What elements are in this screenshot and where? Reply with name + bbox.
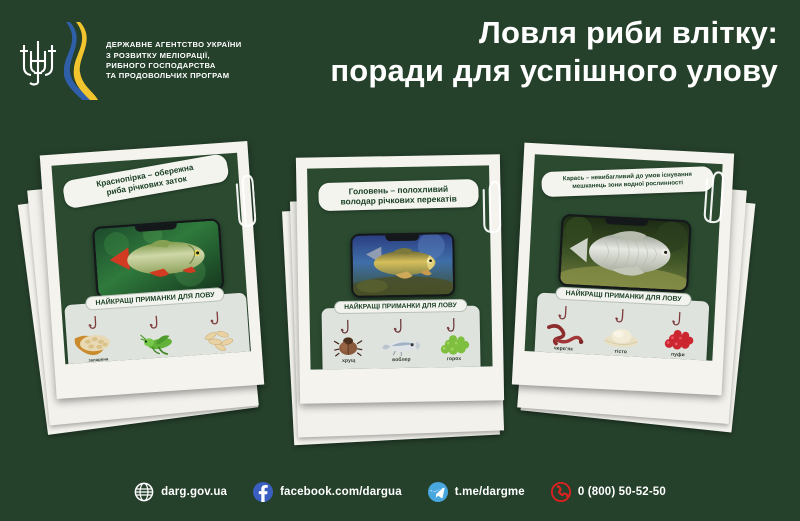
fish-photo-frame [350,232,455,298]
card-inner: НАЙКРАЩІ ПРИМАНКИ ДЛЯ ЛОВУ [525,154,723,361]
baits-heading: НАЙКРАЩІ ПРИМАНКИ ДЛЯ ЛОВУ [334,299,467,314]
fish-photo-frame [558,214,692,293]
phone-icon [551,482,571,502]
poster-canvas: ДЕРЖАВНЕ АГЕНТСТВО УКРАЇНИ З РОЗВИТКУ МЕ… [0,0,800,521]
baits-row: черв'як [535,304,709,361]
hook-icon [341,319,355,336]
bait-item[interactable]: коник [127,313,188,364]
hook-icon [558,305,573,323]
bait-item[interactable]: тісто [593,307,650,357]
footer-item-phone[interactable]: 0 (800) 50-52-50 [551,482,666,502]
title-line-2: поради для успішного улову [188,52,778,90]
globe-icon [134,482,154,502]
baits-panel: НАЙКРАЩІ ПРИМАНКИ ДЛЯ ЛОВУ [322,306,481,370]
title-line-1: Ловля риби влітку: [188,14,778,52]
bait-label: коник [130,356,188,364]
worm-icon [544,321,585,347]
hook-icon [446,317,460,334]
phone-notch [385,235,419,242]
bait-item[interactable]: воблер [375,318,426,364]
footer-facebook-text: facebook.com/dargua [280,486,402,498]
poster-header: ДЕРЖАВНЕ АГЕНТСТВО УКРАЇНИ З РОЗВИТКУ МЕ… [0,0,800,110]
chub-illustration [352,234,453,296]
ukraine-ribbon-icon [64,22,98,100]
baits-row: хрущ [322,317,481,365]
footer-item-website[interactable]: darg.gov.ua [134,482,227,502]
bait-label: тісто [593,349,648,357]
bait-item[interactable]: опариш [188,309,249,361]
peas-icon [436,334,472,357]
baits-panel: НАЙКРАЩІ ПРИМАНКИ ДЛЯ ЛОВУ [534,293,710,361]
puffs-icon [659,327,698,353]
bait-label: воблер [376,358,427,364]
poster-footer: darg.gov.ua facebook.com/dargua t.me/dar… [0,463,800,521]
bait-label: хрущ [323,358,374,364]
hook-icon [210,310,225,327]
fish-photo-frame [92,218,225,299]
fish-cards-area: НАЙКРАЩІ ПРИМАНКИ ДЛЯ ЛОВУ [0,128,800,458]
baits-row: запарена перлова крупа [65,304,250,364]
fish-title-banner: Краснопірка – обережна риба річкових зат… [62,153,230,209]
footer-telegram-text: t.me/dargme [455,486,525,498]
card-frame[interactable]: НАЙКРАЩІ ПРИМАНКИ ДЛЯ ЛОВУ [512,143,734,396]
footer-item-telegram[interactable]: t.me/dargme [428,482,525,502]
bait-item[interactable]: пуфи [650,310,707,360]
hook-icon [88,315,103,332]
rudd-illustration [94,220,222,296]
bait-label: опариш [191,352,249,361]
hook-icon [394,318,408,335]
bait-label: пуфи [650,352,705,360]
beetle-icon [333,336,363,359]
facebook-icon [253,482,273,502]
footer-item-facebook[interactable]: facebook.com/dargua [253,482,402,502]
card-frame[interactable]: НАЙКРАЩІ ПРИМАНКИ ДЛЯ ЛОВУ [296,154,504,404]
bait-item[interactable]: черв'як [536,304,593,354]
bait-item[interactable]: хрущ [323,318,374,364]
footer-phone-text: 0 (800) 50-52-50 [578,486,666,498]
fish-title-banner: Головень – полохливий володар річкових п… [318,179,479,211]
crucian-carp-illustration [560,216,689,291]
fish-title-banner: Карась – невибагливий до умов існування … [541,166,714,197]
maggots-icon [200,326,238,354]
card-inner: НАЙКРАЩІ ПРИМАНКИ ДЛЯ ЛОВУ [51,153,250,364]
bait-label: горох [429,357,480,363]
trident-icon [14,33,62,89]
bait-item[interactable]: горох [428,317,479,363]
fish-photo-krasnopirka [94,220,222,296]
page-title: Ловля риби влітку: поради для успішного … [188,14,778,90]
telegram-icon [428,482,448,502]
barley-spoon-icon [74,329,120,358]
hook-icon [672,311,687,329]
card-inner: НАЙКРАЩІ ПРИМАНКИ ДЛЯ ЛОВУ [307,165,492,369]
bait-item[interactable]: запарена перлова крупа [66,313,128,364]
baits-panel: НАЙКРАЩІ ПРИМАНКИ ДЛЯ ЛОВУ [64,293,251,365]
wobbler-lure-icon [381,335,421,358]
fish-photo-karas [560,216,689,291]
dough-icon [602,324,641,350]
fish-photo-goloven [352,234,453,296]
hook-icon [149,315,164,332]
grasshopper-icon [139,330,177,358]
paper-clip-icon [478,178,501,236]
paper-clip-icon [699,167,725,226]
paper-clip-icon [231,171,257,230]
hook-icon [615,308,630,326]
footer-website-text: darg.gov.ua [161,486,227,498]
